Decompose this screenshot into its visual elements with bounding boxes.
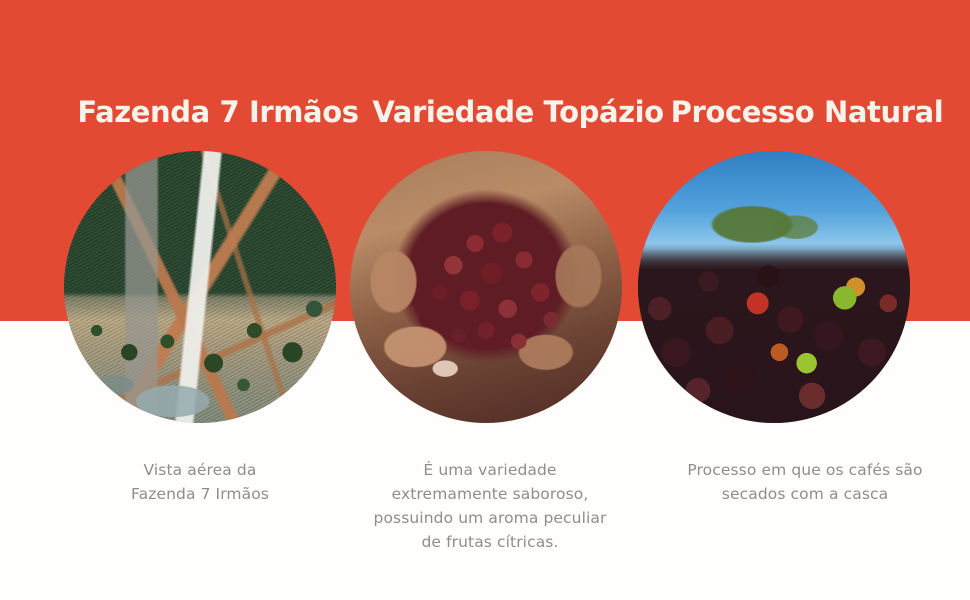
heading-cell-1: Fazenda 7 Irmãos — [58, 88, 378, 136]
headings-row: Fazenda 7 Irmãos Variedade Topázio Proce… — [0, 88, 970, 136]
photo-circle-topazio — [350, 151, 622, 423]
caption-variedade-topazio: É uma variedade extremamente saboroso, p… — [345, 458, 635, 554]
caption-processo-natural: Processo em que os cafés são secados com… — [655, 458, 955, 506]
hands-with-cherries-photo — [350, 151, 622, 423]
photo-circle-natural — [638, 151, 910, 423]
column-heading-fazenda-7-irmaos: Fazenda 7 Irmãos — [77, 98, 358, 127]
caption-fazenda-7-irmaos: Vista aérea da Fazenda 7 Irmãos — [55, 458, 345, 506]
photo-circle-fazenda — [64, 151, 336, 423]
caption-cell-3: Processo em que os cafés são secados com… — [655, 458, 955, 554]
drying-cherries-photo — [638, 151, 910, 423]
column-heading-processo-natural: Processo Natural — [671, 98, 944, 127]
captions-row: Vista aérea da Fazenda 7 Irmãos É uma va… — [0, 458, 970, 554]
heading-cell-2: Variedade Topázio — [378, 88, 658, 136]
aerial-farm-photo — [64, 151, 336, 423]
heading-cell-3: Processo Natural — [668, 88, 946, 136]
slide-canvas: Fazenda 7 Irmãos Variedade Topázio Proce… — [0, 0, 970, 600]
caption-cell-2: É uma variedade extremamente saboroso, p… — [345, 458, 635, 554]
caption-cell-1: Vista aérea da Fazenda 7 Irmãos — [55, 458, 345, 554]
column-heading-variedade-topazio: Variedade Topázio — [372, 98, 663, 127]
